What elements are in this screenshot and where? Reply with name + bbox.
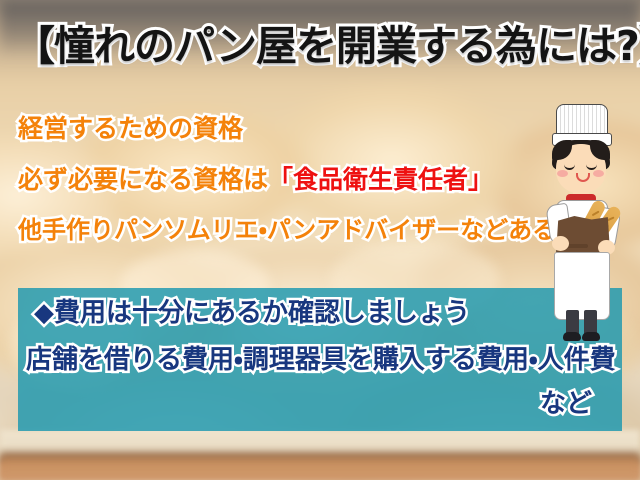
cheek-right xyxy=(593,170,604,177)
baker-illustration xyxy=(524,104,636,342)
cost-callout-line-1: ◆費用は十分にあるか確認しましょう xyxy=(34,300,470,326)
shoe-right xyxy=(582,332,600,341)
slide-canvas: 【憧れのパン屋を開業する為には?】 経営するための資格 必ず必要になる資格は「食… xyxy=(0,0,640,480)
required-qualification-highlight: 「食品衛生責任者」 xyxy=(268,165,493,194)
shelf-front xyxy=(0,452,640,480)
other-qualifications-line: 他手作りパンソムリエ・パンアドバイザーなどある xyxy=(18,218,556,242)
shoe-left xyxy=(563,332,581,341)
cost-callout-line-3: など xyxy=(540,391,592,417)
page-title: 【憧れのパン屋を開業する為には?】 xyxy=(14,26,630,67)
cost-callout-line-2: 店舗を借りる費用・調理器具を購入する費用・人件費 xyxy=(26,347,616,373)
required-qualification-line: 必ず必要になる資格は「食品衛生責任者」 xyxy=(18,167,493,192)
required-qualification-prefix: 必ず必要になる資格は xyxy=(18,165,268,194)
hand-left xyxy=(552,236,569,251)
cheek-left xyxy=(557,170,568,177)
qualification-heading: 経営するための資格 xyxy=(18,116,243,141)
apron xyxy=(554,252,610,320)
